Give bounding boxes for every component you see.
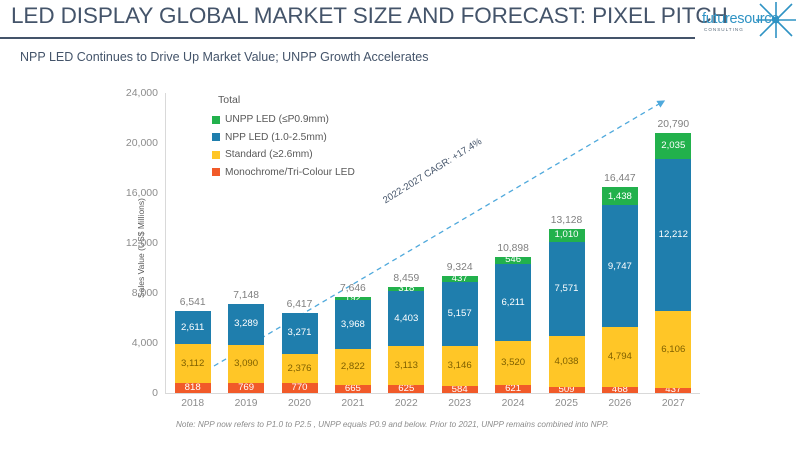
y-axis-ticks: 04,0008,00012,00016,00020,00024,000 <box>98 93 158 393</box>
bar-segment-label: 3,271 <box>287 328 311 338</box>
legend-item[interactable]: NPP LED (1.0-2.5mm) <box>212 130 422 145</box>
bar-segment-label: 468 <box>612 387 628 393</box>
bar-segment[interactable]: 770 <box>282 383 318 393</box>
bar-segment[interactable]: 3,520 <box>495 341 531 385</box>
bar-segment[interactable]: 4,794 <box>602 327 638 387</box>
bar-segment[interactable]: 12,212 <box>655 159 691 312</box>
bar-segment-label: 546 <box>505 257 521 264</box>
bar-total-label: 10,898 <box>478 243 548 254</box>
bar-segment-label: 4,794 <box>608 352 632 362</box>
legend-item[interactable]: Standard (≥2.6mm) <box>212 147 422 162</box>
bar-segment[interactable]: 3,271 <box>282 313 318 354</box>
legend-swatch-icon <box>212 133 220 141</box>
bar-segment[interactable]: 7,571 <box>549 242 585 337</box>
bar-segment-label: 3,520 <box>501 358 525 368</box>
bar-total-label: 8,459 <box>371 273 441 284</box>
x-axis-line <box>165 393 700 394</box>
bar-segment-label: 625 <box>398 385 414 393</box>
bar-segment-label: 2,822 <box>341 362 365 372</box>
bar-segment[interactable]: 318 <box>388 287 424 291</box>
bar-segment-label: 3,090 <box>234 359 258 369</box>
legend-item[interactable]: Monochrome/Tri-Colour LED <box>212 165 422 180</box>
bar-segment-label: 3,968 <box>341 320 365 330</box>
bar-segment[interactable]: 3,968 <box>335 300 371 350</box>
legend-item[interactable]: UNPP LED (≤P0.9mm) <box>212 112 422 127</box>
legend-rows: UNPP LED (≤P0.9mm)NPP LED (1.0-2.5mm)Sta… <box>212 112 422 180</box>
bar-segment-label: 2,376 <box>287 364 311 374</box>
bar-total-label: 9,324 <box>425 262 495 273</box>
bar-segment[interactable]: 6,106 <box>655 311 691 387</box>
bar-segment[interactable]: 818 <box>175 383 211 393</box>
bar-segment-label: 12,212 <box>659 230 688 240</box>
bar-segment[interactable]: 9,747 <box>602 205 638 327</box>
bar-segment-label: 769 <box>238 383 254 393</box>
bar-segment[interactable]: 192 <box>335 297 371 299</box>
bar-group[interactable]: 5094,0387,5711,01013,1282025 <box>549 93 585 393</box>
bar-segment[interactable]: 2,376 <box>282 354 318 384</box>
bar-segment-label: 818 <box>185 383 201 393</box>
bar-segment[interactable]: 3,146 <box>442 346 478 385</box>
y-axis-tick: 4,000 <box>100 337 158 349</box>
bar-segment[interactable]: 3,113 <box>388 346 424 385</box>
bar-segment[interactable]: 3,112 <box>175 344 211 383</box>
bar-segment-label: 3,112 <box>181 359 204 369</box>
bar-segment-label: 437 <box>665 388 681 393</box>
bar-total-label: 16,447 <box>585 173 655 184</box>
bar-group[interactable]: 8183,1122,6116,5412018 <box>175 93 211 393</box>
bar-segment[interactable]: 6,211 <box>495 264 531 342</box>
y-axis-tick: 0 <box>100 387 158 399</box>
bar-segment-label: 4,403 <box>394 314 418 324</box>
y-axis-tick: 24,000 <box>100 87 158 99</box>
bar-segment-label: 770 <box>291 383 307 393</box>
logo-subtext: CONSULTING <box>704 27 744 32</box>
legend-item-label: UNPP LED (≤P0.9mm) <box>225 114 329 125</box>
bar-segment[interactable]: 4,403 <box>388 291 424 346</box>
bar-segment-label: 5,157 <box>448 309 472 319</box>
bar-segment[interactable]: 1,438 <box>602 187 638 205</box>
bar-segment-label: 192 <box>345 297 361 299</box>
legend-item-label: Monochrome/Tri-Colour LED <box>225 167 355 178</box>
bar-segment[interactable]: 621 <box>495 385 531 393</box>
y-axis-tick: 12,000 <box>100 237 158 249</box>
bar-segment[interactable]: 509 <box>549 387 585 393</box>
bar-segment-label: 3,289 <box>234 319 258 329</box>
bar-segment-label: 3,146 <box>448 361 472 371</box>
y-axis-tick: 20,000 <box>100 137 158 149</box>
bar-total-label: 7,646 <box>318 283 388 294</box>
bar-segment-label: 4,038 <box>554 357 578 367</box>
bar-segment[interactable]: 5,157 <box>442 282 478 346</box>
legend-item-label: NPP LED (1.0-2.5mm) <box>225 132 327 143</box>
chart-footnote: Note: NPP now refers to P1.0 to P2.5 , U… <box>176 420 609 429</box>
bar-total-label: 13,128 <box>532 215 602 226</box>
y-axis-tick: 8,000 <box>100 287 158 299</box>
bar-total-label: 6,417 <box>265 299 335 310</box>
bar-total-label: 20,790 <box>638 119 708 130</box>
page-title: LED DISPLAY GLOBAL MARKET SIZE AND FOREC… <box>11 3 728 29</box>
bar-segment-label: 318 <box>398 287 414 291</box>
star-burst-icon <box>756 2 796 38</box>
bar-segment[interactable]: 3,289 <box>228 304 264 345</box>
bar-segment[interactable]: 2,035 <box>655 133 691 158</box>
bar-segment-label: 6,106 <box>661 345 685 355</box>
bar-segment[interactable]: 437 <box>655 388 691 393</box>
bar-segment-label: 3,113 <box>395 361 418 371</box>
page-subtitle: NPP LED Continues to Drive Up Market Val… <box>20 50 429 64</box>
bar-segment[interactable]: 3,090 <box>228 345 264 384</box>
bar-segment[interactable]: 665 <box>335 385 371 393</box>
bar-segment[interactable]: 437 <box>442 276 478 281</box>
bar-segment-label: 1,438 <box>608 192 632 202</box>
bar-segment-label: 665 <box>345 385 361 393</box>
chart-legend: Total UNPP LED (≤P0.9mm)NPP LED (1.0-2.5… <box>212 94 422 182</box>
bar-segment-label: 437 <box>452 276 468 281</box>
bar-segment[interactable]: 468 <box>602 387 638 393</box>
bar-segment-label: 584 <box>452 386 468 393</box>
bar-segment-label: 6,211 <box>501 298 524 308</box>
bar-group[interactable]: 5843,1465,1574379,3242023 <box>442 93 478 393</box>
bar-segment[interactable]: 625 <box>388 385 424 393</box>
page-header: LED DISPLAY GLOBAL MARKET SIZE AND FOREC… <box>0 0 800 40</box>
futuresource-logo: futuresource CONSULTING <box>700 2 796 38</box>
bar-segment[interactable]: 2,611 <box>175 311 211 344</box>
bar-segment-label: 7,571 <box>554 284 578 294</box>
bar-segment[interactable]: 2,822 <box>335 349 371 384</box>
bar-group[interactable]: 4684,7949,7471,43816,4472026 <box>602 93 638 393</box>
bar-segment[interactable]: 4,038 <box>549 336 585 386</box>
bar-segment[interactable]: 1,010 <box>549 229 585 242</box>
x-axis-tick-label: 2027 <box>638 398 708 409</box>
legend-title: Total <box>218 94 422 106</box>
bar-segment-label: 621 <box>505 385 521 393</box>
bar-segment-label: 2,035 <box>661 141 685 151</box>
legend-swatch-icon <box>212 168 220 176</box>
bar-segment[interactable]: 546 <box>495 257 531 264</box>
bar-segment-label: 2,611 <box>181 323 204 333</box>
legend-item-label: Standard (≥2.6mm) <box>225 149 313 160</box>
bar-segment[interactable]: 584 <box>442 386 478 393</box>
bar-group[interactable]: 6213,5206,21154610,8982024 <box>495 93 531 393</box>
bar-segment-label: 509 <box>558 387 574 393</box>
legend-swatch-icon <box>212 151 220 159</box>
bar-group[interactable]: 4376,10612,2122,03520,7902027 <box>655 93 691 393</box>
bar-segment[interactable]: 769 <box>228 383 264 393</box>
bar-segment-label: 9,747 <box>608 262 632 272</box>
header-divider <box>0 37 695 39</box>
legend-swatch-icon <box>212 116 220 124</box>
chart-container: Sales Value (US$ Millions) 04,0008,00012… <box>0 78 800 438</box>
y-axis-tick: 16,000 <box>100 187 158 199</box>
bar-segment-label: 1,010 <box>554 230 578 240</box>
